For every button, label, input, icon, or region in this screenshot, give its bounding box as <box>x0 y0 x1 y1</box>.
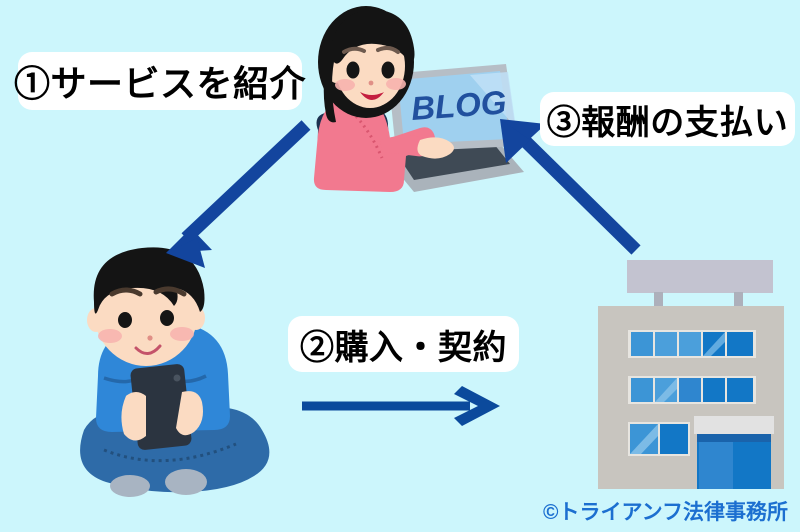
copyright-notice: ©トライアンフ法律事務所 <box>543 496 788 526</box>
step-1-label: ①サービスを紹介 <box>18 52 302 110</box>
step-3-label: ③報酬の支払い <box>540 92 795 146</box>
diagram-canvas: BLOG <box>0 0 800 532</box>
step-2-label: ②購入・契約 <box>288 316 519 372</box>
arrow-2 <box>302 386 500 426</box>
arrow-1 <box>166 125 306 268</box>
